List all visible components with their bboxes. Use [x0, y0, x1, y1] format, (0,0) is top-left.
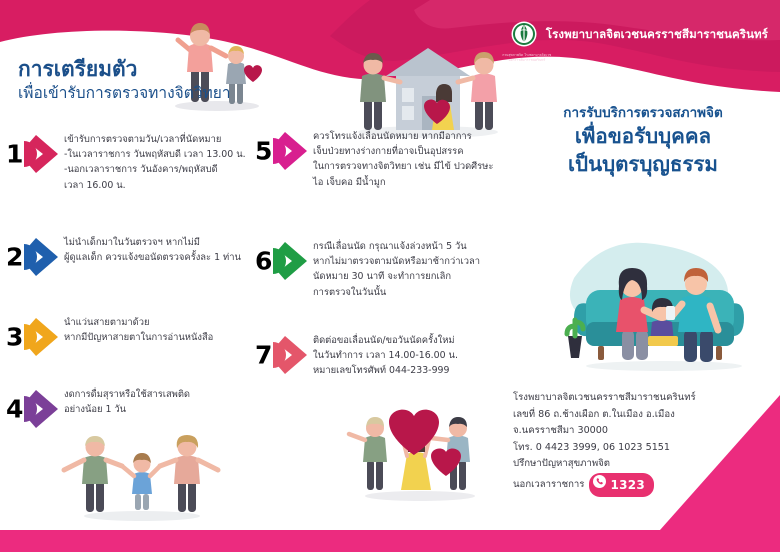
step-marker-3: 3	[6, 314, 64, 360]
corner-wedge-decoration	[660, 395, 780, 530]
right-title-line1: การรับบริการตรวจสภาพจิต	[512, 104, 774, 122]
step-marker-1: 1	[6, 131, 64, 177]
step-text-3: นำแว่นสายตามาด้วย หากมีปัญหาสายตาในการอ่…	[64, 314, 213, 345]
right-panel-title: การรับบริการตรวจสภาพจิต เพื่อขอรับบุคคล …	[512, 104, 774, 178]
family-on-sofa-illustration	[544, 218, 776, 376]
right-title-line2: เพื่อขอรับบุคคล	[512, 123, 774, 150]
step-item-7: 7 ติดต่อขอเลื่อนนัด/ขอวันนัดครั้งใหม่ ใน…	[255, 332, 458, 379]
left-title-line1: การเตรียมตัว	[18, 57, 231, 82]
step-text-5: ควรโทรแจ้งเลื่อนนัดหมาย หากมีอาการ เจ็บป…	[313, 128, 493, 190]
step-item-5: 5 ควรโทรแจ้งเลื่อนนัดหมาย หากมีอาการ เจ็…	[255, 128, 493, 190]
parents-swinging-child-illustration	[56, 432, 228, 524]
step-marker-2: 2	[6, 234, 64, 280]
hotline-badge[interactable]: 1323	[589, 473, 654, 498]
hotline-number: 1323	[610, 475, 645, 496]
chevron-arrow-icon	[269, 332, 313, 382]
family-with-house-and-heart-illustration	[338, 32, 518, 140]
step-marker-4: 4	[6, 386, 64, 432]
chevron-arrow-icon	[269, 128, 313, 178]
step-text-6: กรณีเลื่อนนัด กรุณาแจ้งล่วงหน้า 5 วัน หา…	[313, 238, 480, 300]
hospital-logo-row: กรมสุขภาพจิต โรงพยาบาลจิตเวชนครราชสีมารา…	[509, 20, 768, 50]
left-panel-title: การเตรียมตัว เพื่อเข้ารับการตรวจทางจิตวิ…	[18, 57, 231, 103]
step-marker-6: 6	[255, 238, 313, 284]
step-text-2: ไม่นำเด็กมาในวันตรวจฯ หากไม่มี ผู้ดูแลเด…	[64, 234, 241, 265]
hotline-label: นอกเวลาราชการ	[513, 477, 584, 494]
chevron-arrow-icon	[269, 238, 313, 288]
infographic-poster: กรมสุขภาพจิต โรงพยาบาลจิตเวชนครราชสีมารา…	[0, 0, 780, 552]
family-holding-hearts-illustration	[345, 398, 495, 504]
chevron-arrow-icon	[20, 386, 64, 436]
step-text-4: งดการดื่มสุราหรือใช้สารเสพติด อย่างน้อย …	[64, 386, 190, 417]
chevron-arrow-icon	[20, 314, 64, 364]
step-text-7: ติดต่อขอเลื่อนนัด/ขอวันนัดครั้งใหม่ ในวั…	[313, 332, 458, 379]
step-marker-5: 5	[255, 128, 313, 174]
chevron-arrow-icon	[20, 131, 64, 181]
left-title-line2: เพื่อเข้ารับการตรวจทางจิตวิทยา	[18, 83, 231, 103]
step-marker-7: 7	[255, 332, 313, 378]
step-item-4: 4 งดการดื่มสุราหรือใช้สารเสพติด อย่างน้อ…	[6, 386, 190, 432]
step-item-3: 3 นำแว่นสายตามาด้วย หากมีปัญหาสายตาในการ…	[6, 314, 213, 360]
phone-icon	[593, 475, 606, 495]
chevron-arrow-icon	[20, 234, 64, 284]
step-item-2: 2 ไม่นำเด็กมาในวันตรวจฯ หากไม่มี ผู้ดูแล…	[6, 234, 241, 280]
right-title-line3: เป็นบุตรบุญธรรม	[512, 151, 774, 178]
step-text-1: เข้ารับการตรวจตามวัน/เวลาที่นัดหมาย -ในเ…	[64, 131, 246, 193]
hospital-name: โรงพยาบาลจิตเวชนครราชสีมาราชนครินทร์	[546, 26, 768, 44]
bottom-bar	[0, 530, 780, 552]
step-item-6: 6 กรณีเลื่อนนัด กรุณาแจ้งล่วงหน้า 5 วัน …	[255, 238, 480, 300]
step-item-1: 1 เข้ารับการตรวจตามวัน/เวลาที่นัดหมาย -ใ…	[6, 131, 246, 193]
